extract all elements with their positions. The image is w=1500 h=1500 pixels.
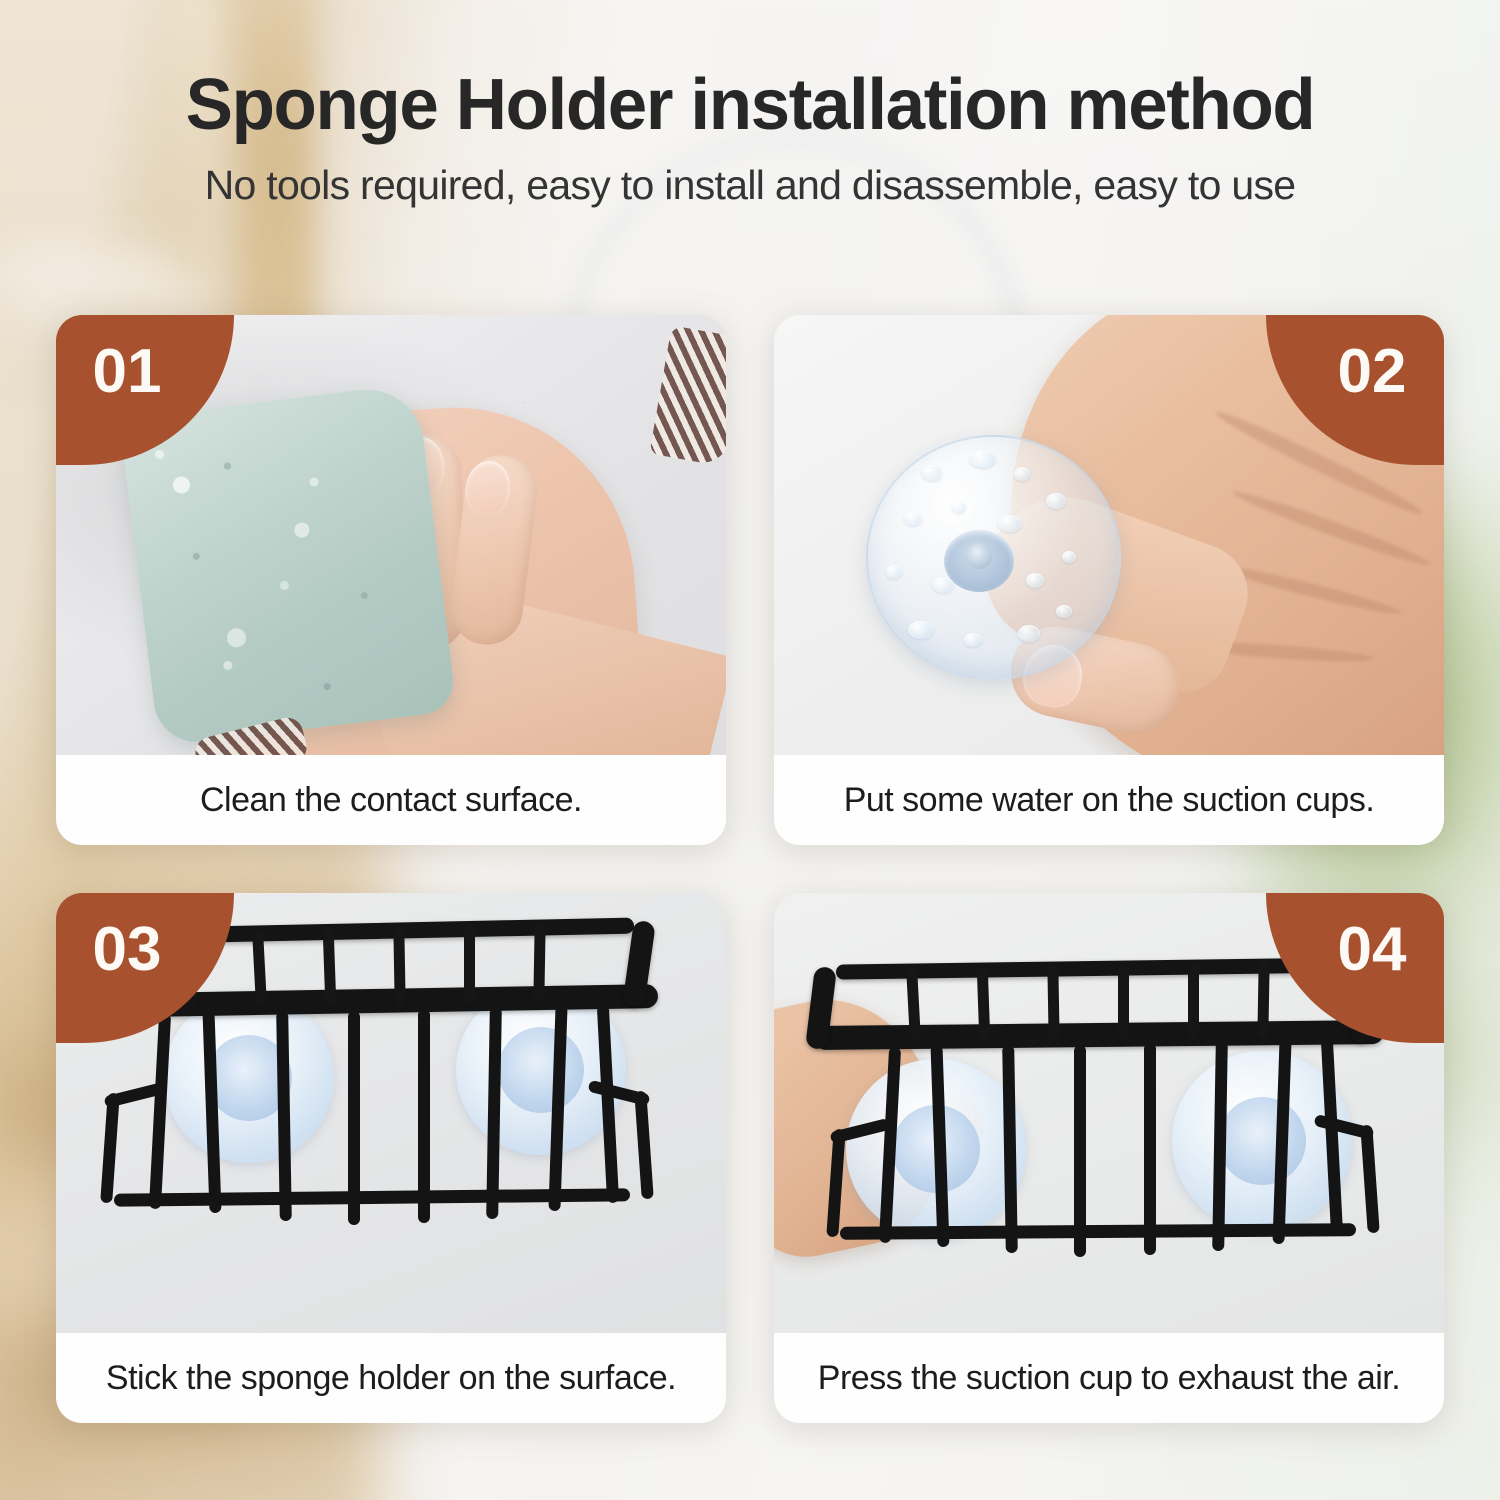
holder-side-hook-left2 <box>829 1118 890 1144</box>
holder-side-hook-right2 <box>1313 1114 1374 1140</box>
holder-side-hook-left <box>826 1129 846 1238</box>
water-droplet <box>998 515 1022 532</box>
holder-side-hook-right <box>634 1091 654 1200</box>
water-droplet <box>922 465 942 481</box>
step-card-02: 02 Put some water on the suction cups. <box>774 315 1444 845</box>
step-number: 01 <box>93 341 162 403</box>
holder-grill-bar <box>1118 965 1129 1039</box>
step-caption-bar-03: Stick the sponge holder on the surface. <box>56 1333 726 1423</box>
holder-vertical-wire <box>1002 1045 1018 1253</box>
holder-grill-bar <box>464 925 475 1003</box>
water-droplet <box>964 633 982 647</box>
suction-cup-stem <box>966 543 992 569</box>
holder-vertical-wire <box>879 1047 901 1243</box>
holder-grill-bar <box>977 967 991 1039</box>
holder-top-rim-front <box>814 1020 1384 1050</box>
step-card-03: 03 Stick the sponge holder on the surfac… <box>56 893 726 1423</box>
step-caption-bar-04: Press the suction cup to exhaust the air… <box>774 1333 1444 1423</box>
holder-vertical-wire <box>1212 1041 1228 1251</box>
step-caption-03: Stick the sponge holder on the surface. <box>56 1359 726 1398</box>
step-caption-02: Put some water on the suction cups. <box>774 781 1444 820</box>
step-caption-bar-01: Clean the contact surface. <box>56 755 726 845</box>
holder-grill-bar <box>1188 963 1199 1039</box>
holder-side-hook-right2 <box>587 1080 650 1107</box>
step-caption-bar-02: Put some water on the suction cups. <box>774 755 1444 845</box>
holder-vertical-wire <box>149 1013 171 1209</box>
page-subtitle: No tools required, easy to install and d… <box>0 162 1500 209</box>
holder-vertical-wire <box>597 1005 619 1203</box>
holder-grill-bar <box>1257 962 1269 1038</box>
water-droplet <box>908 621 934 639</box>
holder-vertical-wire <box>1144 1043 1156 1255</box>
step-number: 03 <box>93 919 162 981</box>
water-droplet <box>932 577 954 593</box>
holder-vertical-wire <box>548 1005 567 1211</box>
water-droplet <box>1062 551 1076 563</box>
water-droplet <box>1014 467 1030 481</box>
step-caption-04: Press the suction cup to exhaust the air… <box>774 1359 1444 1398</box>
step-number: 04 <box>1338 919 1407 981</box>
holder-side-hook-right <box>1360 1125 1380 1234</box>
holder-grill-bar <box>906 969 921 1039</box>
holder-side-hook-left <box>100 1093 120 1204</box>
infographic-page: Sponge Holder installation method No too… <box>0 0 1500 1500</box>
step-caption-01: Clean the contact surface. <box>56 781 726 820</box>
holder-grill-bar <box>323 929 337 1005</box>
holder-grill-bar <box>533 923 545 1001</box>
holder-grill-bar <box>1047 966 1059 1040</box>
holder-vertical-wire <box>1272 1040 1291 1244</box>
water-droplet <box>970 450 996 468</box>
holder-vertical-wire <box>486 1007 502 1219</box>
water-droplet <box>904 511 922 526</box>
water-droplet <box>952 501 966 513</box>
step-number: 02 <box>1338 341 1407 403</box>
page-title: Sponge Holder installation method <box>11 68 1489 144</box>
step-card-01: 01 Clean the contact surface. <box>56 315 726 845</box>
header: Sponge Holder installation method No too… <box>0 68 1500 209</box>
holder-vertical-wire <box>1321 1039 1343 1235</box>
water-droplet <box>1046 493 1066 509</box>
holder-vertical-wire <box>930 1045 949 1247</box>
steps-grid: 01 Clean the contact surface. <box>56 315 1444 1445</box>
water-droplet <box>1018 625 1040 642</box>
holder-vertical-wire <box>202 1011 221 1213</box>
step-card-04: 04 Press the suction cup to exhaust the … <box>774 893 1444 1423</box>
holder-grill-bar <box>393 927 405 1005</box>
water-droplet <box>886 565 902 579</box>
holder-vertical-wire <box>276 1011 292 1221</box>
water-droplet <box>1056 605 1072 618</box>
water-droplet <box>1026 573 1044 588</box>
